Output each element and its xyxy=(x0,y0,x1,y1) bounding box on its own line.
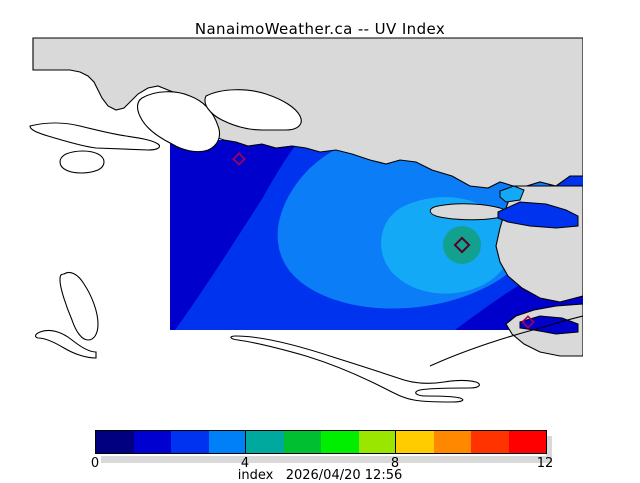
colorbar-band-4-5 xyxy=(246,431,284,453)
colorbar: 04812 index 2026/04/20 12:56 xyxy=(0,424,640,480)
colorbar-band-3-4 xyxy=(209,431,247,453)
map-canvas[interactable] xyxy=(0,36,640,406)
coastal-notch xyxy=(60,151,104,173)
colorbar-band-0-1 xyxy=(96,431,134,453)
colorbar-band-1-2 xyxy=(134,431,172,453)
colorbar-track[interactable] xyxy=(95,430,547,454)
colorbar-band-10-11 xyxy=(471,431,509,453)
map-graphic xyxy=(0,36,640,406)
colorbar-band-2-3 xyxy=(171,431,209,453)
colorbar-band-8-9 xyxy=(396,431,434,453)
colorbar-tick-4 xyxy=(245,430,246,454)
colorbar-band-9-10 xyxy=(434,431,472,453)
colorbar-caption: index 2026/04/20 12:56 xyxy=(0,468,640,483)
colorbar-band-5-6 xyxy=(284,431,322,453)
colorbar-band-7-8 xyxy=(359,431,397,453)
colorbar-shadow-bottom xyxy=(101,456,551,463)
colorbar-tick-8 xyxy=(395,430,396,454)
uv-index-map-page: NanaimoWeather.ca -- UV Index xyxy=(0,0,640,480)
colorbar-band-11-12 xyxy=(509,431,547,453)
colorbar-band-6-7 xyxy=(321,431,359,453)
